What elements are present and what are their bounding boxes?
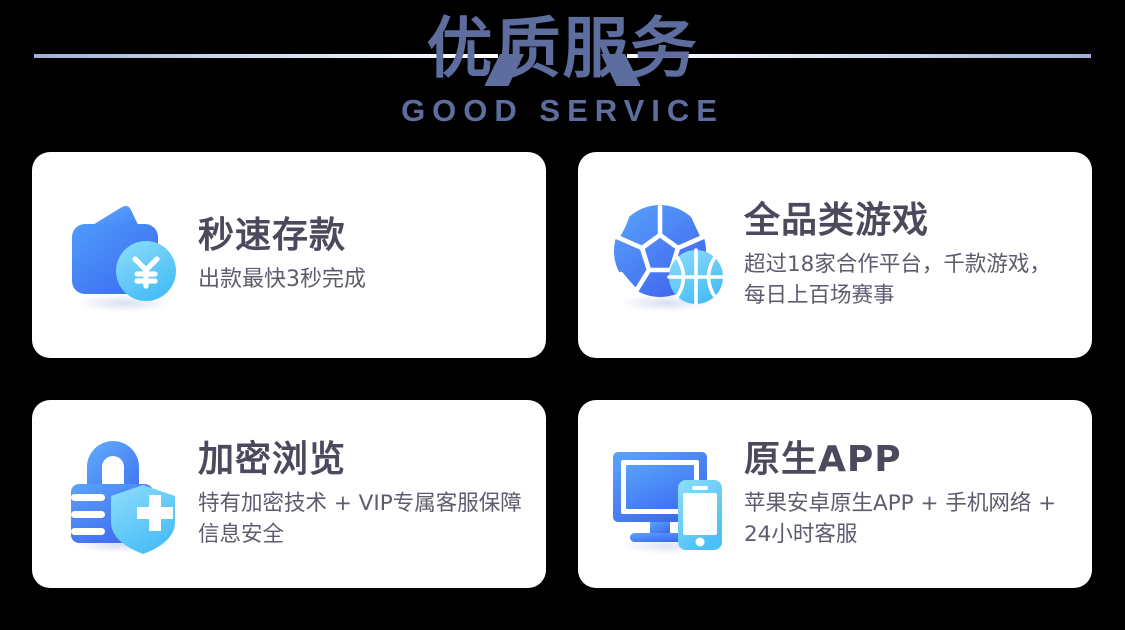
feature-card-deposit[interactable]: 秒速存款 出款最快3秒完成 [32,152,546,358]
card-title: 全品类游戏 [744,199,1070,242]
card-subtitle: 出款最快3秒完成 [198,264,524,296]
soccer-basketball-icon [604,191,732,319]
card-title: 加密浏览 [198,438,524,481]
feature-card-text: 原生APP 苹果安卓原生APP + 手机网络 + 24小时客服 [744,438,1070,551]
feature-card-grid: 秒速存款 出款最快3秒完成 [32,152,1092,588]
feature-card-text: 加密浏览 特有加密技术 + VIP专属客服保障信息安全 [198,438,524,551]
card-title: 原生APP [744,438,1070,481]
wallet-coin-icon [58,191,186,319]
feature-card-games[interactable]: 全品类游戏 超过18家合作平台，千款游戏，每日上百场赛事 [578,152,1092,358]
card-subtitle: 苹果安卓原生APP + 手机网络 + 24小时客服 [744,488,1070,550]
card-title: 秒速存款 [198,214,524,257]
page-root: 优质服务 GOOD SERVICE [0,0,1125,630]
page-title: 优质服务 [427,8,699,91]
card-subtitle: 特有加密技术 + VIP专属客服保障信息安全 [198,488,524,550]
lock-shield-icon [58,430,186,558]
feature-card-native-app[interactable]: 原生APP 苹果安卓原生APP + 手机网络 + 24小时客服 [578,400,1092,588]
page-header: 优质服务 GOOD SERVICE [0,0,1125,148]
feature-card-text: 秒速存款 出款最快3秒完成 [198,214,524,296]
feature-card-text: 全品类游戏 超过18家合作平台，千款游戏，每日上百场赛事 [744,199,1070,312]
page-subtitle: GOOD SERVICE [401,95,724,126]
feature-card-encryption[interactable]: 加密浏览 特有加密技术 + VIP专属客服保障信息安全 [32,400,546,588]
monitor-phone-icon [604,430,732,558]
card-subtitle: 超过18家合作平台，千款游戏，每日上百场赛事 [744,249,1070,311]
header-title-block: 优质服务 GOOD SERVICE [0,0,1125,126]
